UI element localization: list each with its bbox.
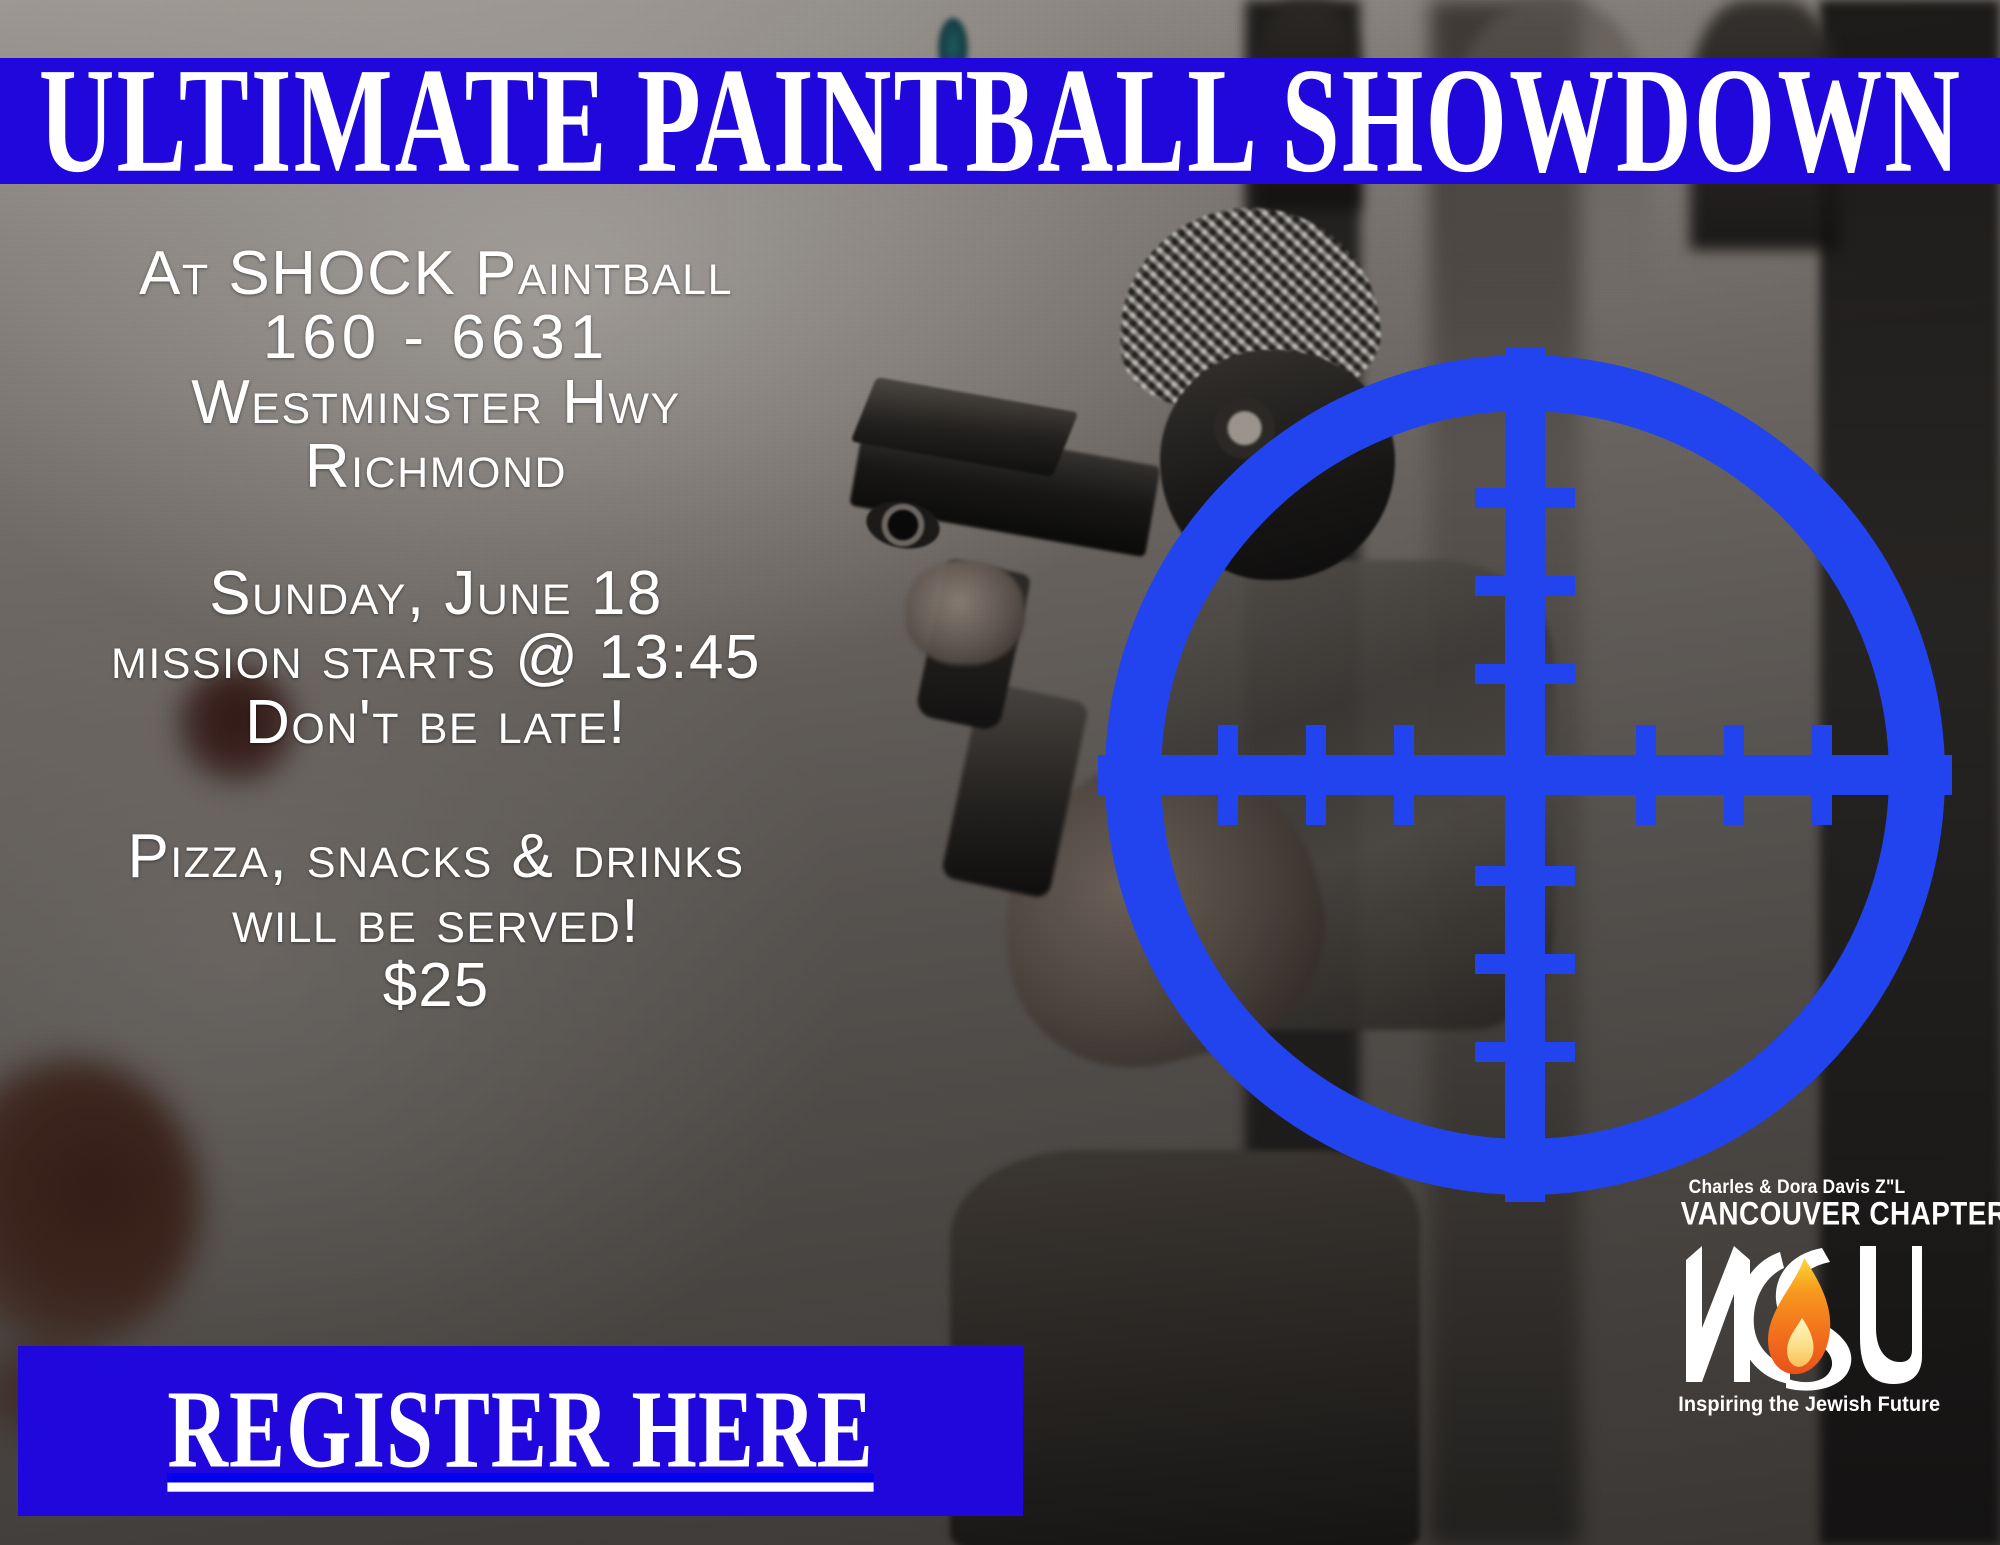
logo-chapter-name: VANCOUVER CHAPTER [1681,1199,1914,1231]
venue-street-name: Westminster Hwy [0,371,872,435]
venue-city: Richmond [0,435,872,499]
logo-tagline: Inspiring the Jewish Future [1678,1394,1916,1415]
event-start-time: mission starts @ 13:45 [0,626,872,690]
register-here-button[interactable]: REGISTER HERE [18,1346,1023,1516]
event-price: $25 [0,954,872,1018]
food-block: Pizza, snacks & drinks will be served! $… [0,825,872,1018]
logo-dedication: Charles & Dora Davis Z"L [1682,1178,1912,1197]
event-date: Sunday, June 18 [0,562,872,626]
punctuality-note: Don't be late! [0,691,872,755]
venue-name: At SHOCK Paintball [0,242,872,306]
ncsy-wordmark-with-flame-icon [1672,1232,1922,1392]
ncsy-logo: Charles & Dora Davis Z"L VANCOUVER CHAPT… [1672,1178,1922,1440]
food-offering: Pizza, snacks & drinks [0,825,872,889]
register-here-label: REGISTER HERE [167,1376,873,1487]
paintball-event-poster: ULTIMATE PAINTBALL SHOWDOWN [0,0,2000,1545]
venue-block: At SHOCK Paintball 160 - 6631 Westminste… [0,242,872,500]
venue-street-number: 160 - 6631 [0,306,872,370]
page-title: ULTIMATE PAINTBALL SHOWDOWN [24,46,1975,197]
schedule-block: Sunday, June 18 mission starts @ 13:45 D… [0,562,872,755]
food-offering-cont: will be served! [0,890,872,954]
header-banner: ULTIMATE PAINTBALL SHOWDOWN [0,58,2000,184]
event-details: At SHOCK Paintball 160 - 6631 Westminste… [0,214,872,1029]
